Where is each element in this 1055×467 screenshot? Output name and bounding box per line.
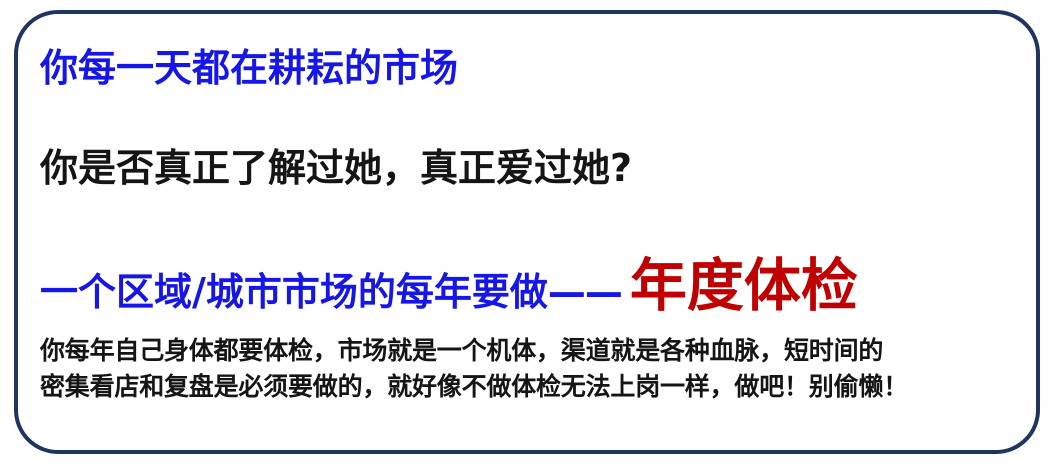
body-line-2: 密集看店和复盘是必须要做的，就好像不做体检无法上岗一样，做吧！别偷懒！ [40,369,1020,405]
heading-line-2: 你是否真正了解过她，真正爱过她? [40,148,632,190]
heading-line-1: 你每一天都在耕耘的市场 [40,48,458,90]
callout-emphasis-text: 年度体检 [630,258,858,315]
callout-prefix-text: 一个区域/城市市场的每年要做 [40,273,548,311]
body-paragraph: 你每年自己身体都要体检，市场就是一个机体，渠道就是各种血脉，短时间的 密集看店和… [40,333,1020,404]
callout-row: 一个区域/城市市场的每年要做 —— 年度体检 [40,258,858,315]
callout-dash: —— [548,273,622,311]
slide-canvas: 你每一天都在耕耘的市场 你是否真正了解过她，真正爱过她? 一个区域/城市市场的每… [0,0,1055,467]
body-line-1: 你每年自己身体都要体检，市场就是一个机体，渠道就是各种血脉，短时间的 [40,333,1020,369]
